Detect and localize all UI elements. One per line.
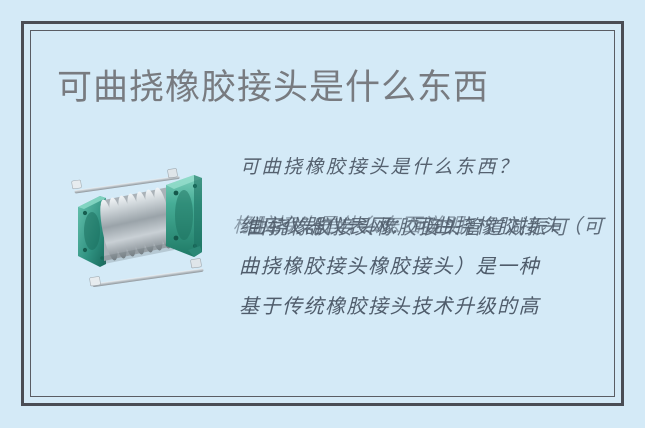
body-line-1-layer-c: 橡胶接头是什么东西说明: [233, 205, 604, 245]
product-image-bellows-expansion-joint: [48, 160, 238, 310]
page-title: 可曲挠橡胶接头是什么东西: [57, 66, 489, 110]
handwritten-question: 可曲挠橡胶接头是什么东西？: [240, 152, 520, 179]
body-line-2: 曲挠橡胶接头橡胶接头）是一种: [239, 246, 599, 286]
body-line-1-overlapped: 维库仪器仪表网：可曲挠橡胶接头（可 曲挠橡胶接头橡胶接头管道减振可 橡胶接头是什…: [239, 206, 599, 246]
flange-right: [166, 175, 202, 257]
handwritten-body-text: 维库仪器仪表网：可曲挠橡胶接头（可 曲挠橡胶接头橡胶接头管道减振可 橡胶接头是什…: [239, 206, 599, 326]
poster-canvas: 可曲挠橡胶接头是什么东西: [0, 0, 645, 428]
body-line-3: 基于传统橡胶接头技术升级的高: [239, 286, 599, 326]
